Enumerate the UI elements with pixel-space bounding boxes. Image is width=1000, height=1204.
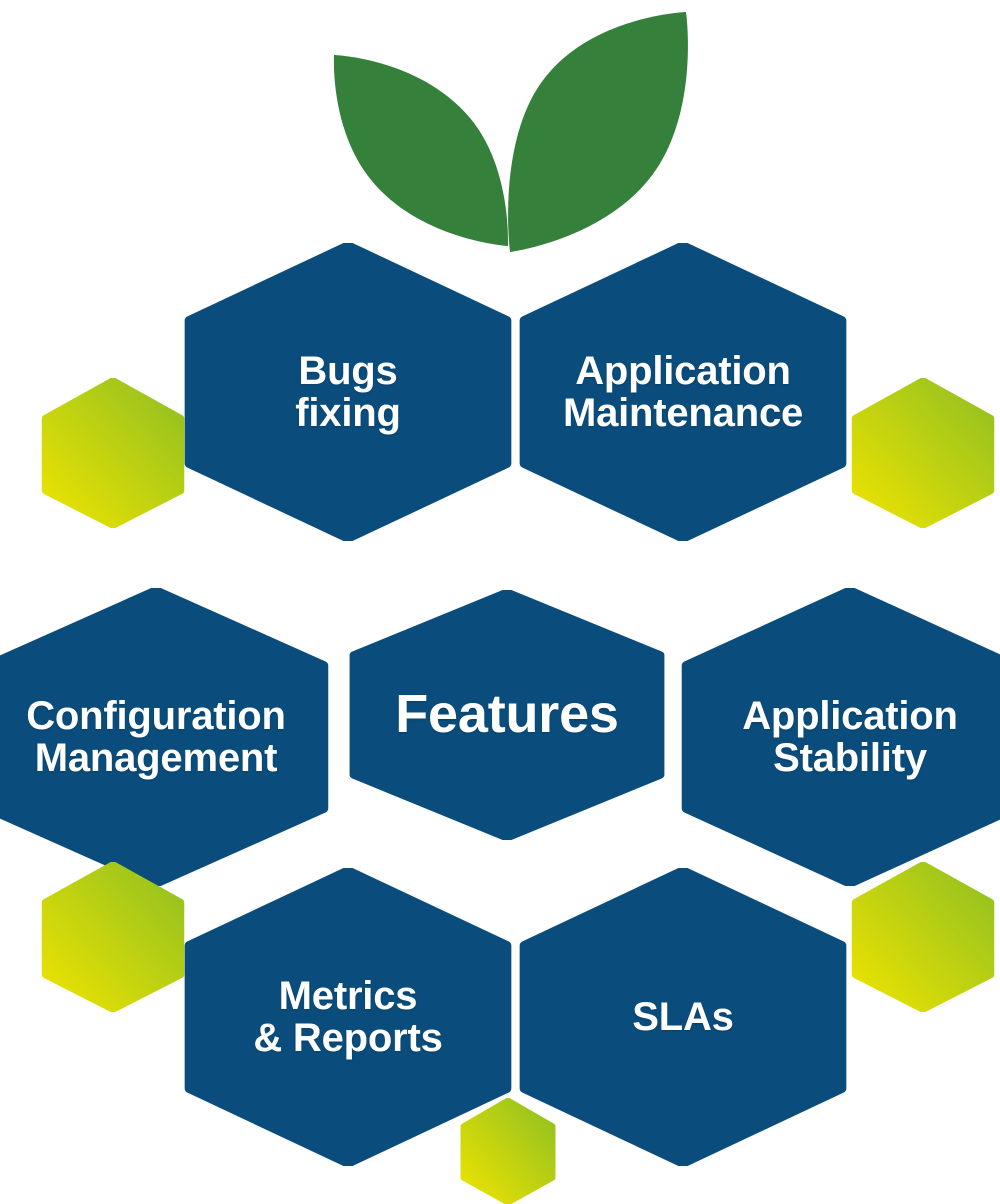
two-leaf-sprout-icon xyxy=(320,8,690,258)
hex-cell-configuration-management[interactable]: Configuration Management xyxy=(0,588,330,886)
hex-label: Configuration Management xyxy=(18,695,294,780)
hex-label: Features xyxy=(387,686,627,743)
hex-label: Application Maintenance xyxy=(555,350,811,435)
honeycomb-diagram: Bugs fixing Application Maintenance Conf… xyxy=(0,0,1000,1195)
hex-label: Metrics & Reports xyxy=(245,975,450,1060)
accent-hexagon-bottom-right xyxy=(848,862,998,1012)
hex-label: SLAs xyxy=(624,996,741,1038)
hex-cell-features[interactable]: Features xyxy=(348,590,666,840)
hex-label: Bugs fixing xyxy=(287,350,408,435)
accent-hexagon-top-left xyxy=(38,378,188,528)
hex-cell-bugs-fixing[interactable]: Bugs fixing xyxy=(183,243,513,541)
accent-hexagon-bottom-center xyxy=(458,1098,558,1204)
hex-cell-slas[interactable]: SLAs xyxy=(518,868,848,1166)
accent-hexagon-bottom-left xyxy=(38,862,188,1012)
accent-hexagon-top-right xyxy=(848,378,998,528)
hex-label: Application Stability xyxy=(734,695,966,780)
hex-cell-application-maintenance[interactable]: Application Maintenance xyxy=(518,243,848,541)
hex-cell-application-stability[interactable]: Application Stability xyxy=(680,588,1000,886)
